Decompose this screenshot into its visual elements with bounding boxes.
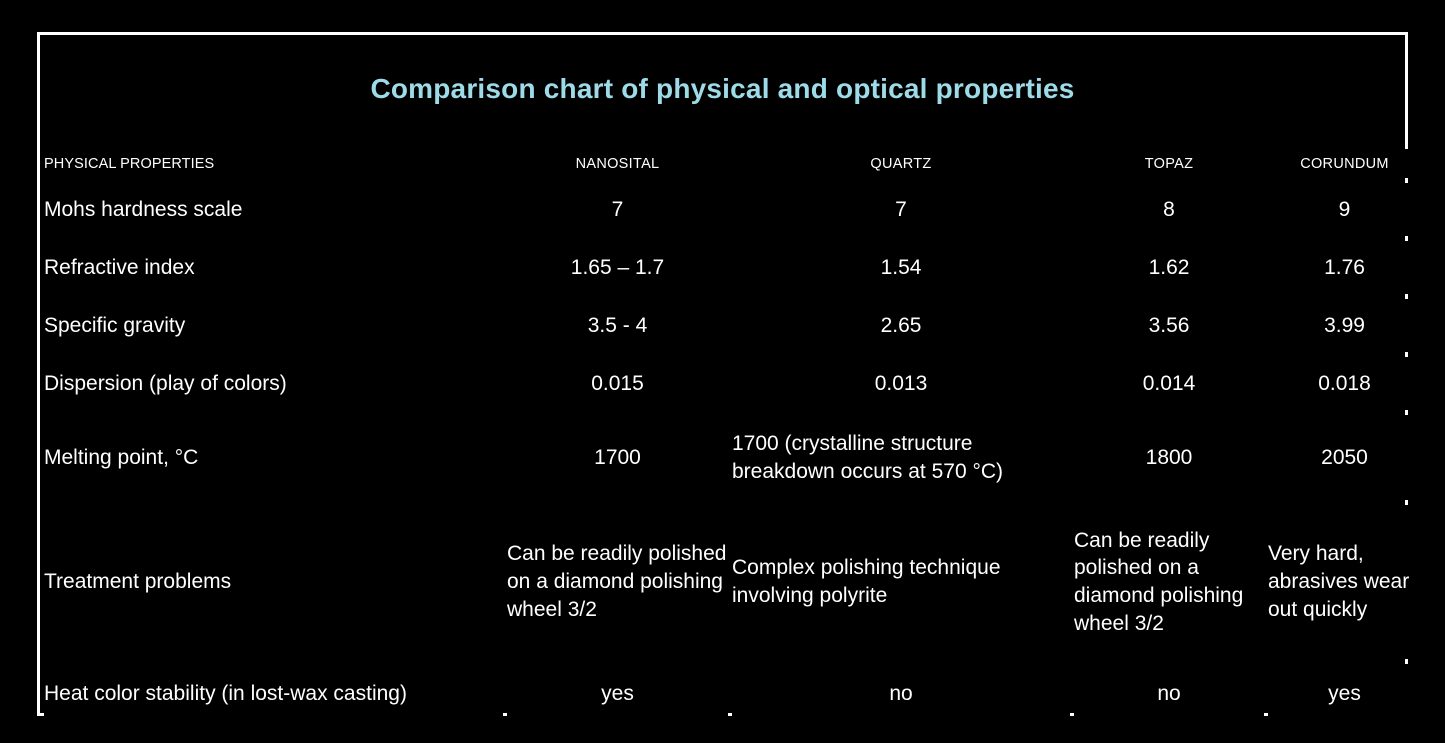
row-label-heat-color-stability: Heat color stability (in lost-wax castin… <box>44 664 503 724</box>
cell-melting-corundum: 2050 <box>1268 415 1421 500</box>
table-row: Melting point, °C 1700 1700 (crystalline… <box>44 415 1421 500</box>
cell-heat-quartz: no <box>732 664 1070 724</box>
row-label-specific-gravity: Specific gravity <box>44 299 503 352</box>
cell-mohs-quartz: 7 <box>732 183 1070 236</box>
row-label-treatment-problems: Treatment problems <box>44 505 503 659</box>
cell-refractive-corundum: 1.76 <box>1268 241 1421 294</box>
page-title: Comparison chart of physical and optical… <box>370 73 1074 105</box>
table-row: Mohs hardness scale 7 7 8 9 <box>44 183 1421 236</box>
table-row: Treatment problems Can be readily polish… <box>44 505 1421 659</box>
column-header-topaz: TOPAZ <box>1074 149 1264 178</box>
cell-refractive-nanosital: 1.65 – 1.7 <box>507 241 728 294</box>
row-label-refractive-index: Refractive index <box>44 241 503 294</box>
table-header-row: PHYSICAL PROPERTIES NANOSITAL QUARTZ TOP… <box>44 149 1421 178</box>
cell-melting-topaz: 1800 <box>1074 415 1264 500</box>
cell-refractive-quartz: 1.54 <box>732 241 1070 294</box>
cell-melting-nanosital: 1700 <box>507 415 728 500</box>
cell-dispersion-nanosital: 0.015 <box>507 357 728 410</box>
cell-mohs-topaz: 8 <box>1074 183 1264 236</box>
table-row: Heat color stability (in lost-wax castin… <box>44 664 1421 724</box>
cell-heat-corundum: yes <box>1268 664 1421 724</box>
column-header-quartz: QUARTZ <box>732 149 1070 178</box>
table-row: Refractive index 1.65 – 1.7 1.54 1.62 1.… <box>44 241 1421 294</box>
cell-refractive-topaz: 1.62 <box>1074 241 1264 294</box>
title-band: Comparison chart of physical and optical… <box>40 35 1405 142</box>
cell-treatment-topaz: Can be readily polished on a diamond pol… <box>1074 505 1264 659</box>
column-header-corundum: CORUNDUM <box>1268 149 1421 178</box>
cell-dispersion-topaz: 0.014 <box>1074 357 1264 410</box>
cell-mohs-nanosital: 7 <box>507 183 728 236</box>
cell-heat-nanosital: yes <box>507 664 728 724</box>
cell-mohs-corundum: 9 <box>1268 183 1421 236</box>
comparison-chart-page: Comparison chart of physical and optical… <box>0 0 1445 743</box>
table-row: Specific gravity 3.5 - 4 2.65 3.56 3.99 <box>44 299 1421 352</box>
cell-dispersion-corundum: 0.018 <box>1268 357 1421 410</box>
cell-gravity-topaz: 3.56 <box>1074 299 1264 352</box>
cell-dispersion-quartz: 0.013 <box>732 357 1070 410</box>
comparison-table: PHYSICAL PROPERTIES NANOSITAL QUARTZ TOP… <box>40 144 1425 729</box>
column-header-physical-properties: PHYSICAL PROPERTIES <box>44 149 503 178</box>
row-label-mohs-hardness-scale: Mohs hardness scale <box>44 183 503 236</box>
cell-treatment-corundum: Very hard, abrasives wear out quickly <box>1268 505 1421 659</box>
cell-treatment-quartz: Complex polishing technique involving po… <box>732 505 1070 659</box>
cell-heat-topaz: no <box>1074 664 1264 724</box>
cell-treatment-nanosital: Can be readily polished on a diamond pol… <box>507 505 728 659</box>
cell-gravity-quartz: 2.65 <box>732 299 1070 352</box>
cell-gravity-corundum: 3.99 <box>1268 299 1421 352</box>
column-header-nanosital: NANOSITAL <box>507 149 728 178</box>
cell-melting-quartz: 1700 (crystalline structure breakdown oc… <box>732 415 1070 500</box>
chart-frame: Comparison chart of physical and optical… <box>37 32 1408 716</box>
row-label-melting-point: Melting point, °C <box>44 415 503 500</box>
row-label-dispersion: Dispersion (play of colors) <box>44 357 503 410</box>
cell-gravity-nanosital: 3.5 - 4 <box>507 299 728 352</box>
table-row: Dispersion (play of colors) 0.015 0.013 … <box>44 357 1421 410</box>
